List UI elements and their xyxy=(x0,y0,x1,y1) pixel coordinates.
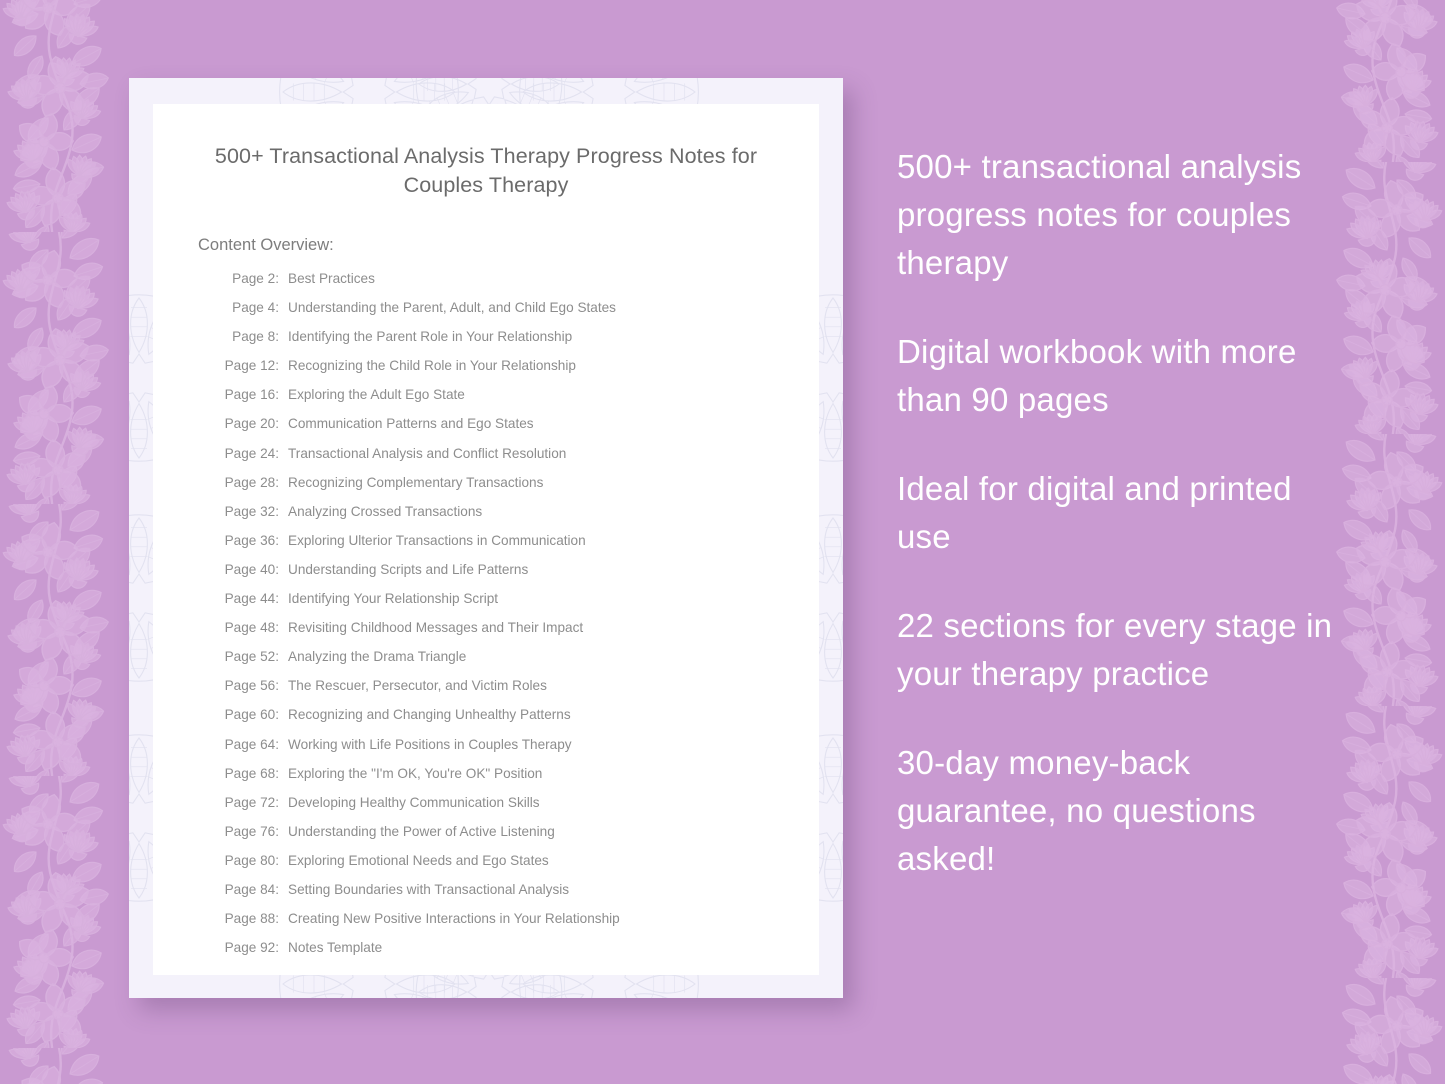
toc-page-number: Page 64: xyxy=(221,737,279,753)
toc-section-title: Recognizing and Changing Unhealthy Patte… xyxy=(288,707,571,723)
toc-section-title: Exploring the "I'm OK, You're OK" Positi… xyxy=(288,766,542,782)
toc-row: Page 48:Revisiting Childhood Messages an… xyxy=(221,620,795,649)
toc-section-title: Exploring Ulterior Transactions in Commu… xyxy=(288,533,586,549)
toc-page-number: Page 32: xyxy=(221,504,279,520)
toc-page-number: Page 48: xyxy=(221,620,279,636)
toc-page-number: Page 40: xyxy=(221,562,279,578)
toc-page-number: Page 76: xyxy=(221,824,279,840)
toc-page-number: Page 20: xyxy=(221,416,279,432)
toc-row: Page 64:Working with Life Positions in C… xyxy=(221,737,795,766)
toc-section-title: Analyzing the Drama Triangle xyxy=(288,649,466,665)
toc-page-number: Page 36: xyxy=(221,533,279,549)
table-of-contents: Page 2:Best PracticesPage 4:Understandin… xyxy=(221,271,795,969)
toc-page-number: Page 80: xyxy=(221,853,279,869)
promo-line: 30-day money-back guarantee, no question… xyxy=(897,739,1347,883)
toc-row: Page 8:Identifying the Parent Role in Yo… xyxy=(221,329,795,358)
toc-page-number: Page 60: xyxy=(221,707,279,723)
toc-section-title: Understanding Scripts and Life Patterns xyxy=(288,562,528,578)
toc-page-number: Page 2: xyxy=(221,271,279,287)
toc-row: Page 36:Exploring Ulterior Transactions … xyxy=(221,533,795,562)
floral-vine-icon xyxy=(1333,0,1445,1084)
toc-page-number: Page 24: xyxy=(221,446,279,462)
promo-line: 500+ transactional analysis progress not… xyxy=(897,143,1347,287)
toc-page-number: Page 68: xyxy=(221,766,279,782)
toc-row: Page 32:Analyzing Crossed Transactions xyxy=(221,504,795,533)
toc-page-number: Page 16: xyxy=(221,387,279,403)
toc-row: Page 84:Setting Boundaries with Transact… xyxy=(221,882,795,911)
toc-row: Page 24:Transactional Analysis and Confl… xyxy=(221,446,795,475)
toc-section-title: Communication Patterns and Ego States xyxy=(288,416,534,432)
toc-row: Page 92:Notes Template xyxy=(221,940,795,969)
toc-row: Page 16:Exploring the Adult Ego State xyxy=(221,387,795,416)
toc-row: Page 72:Developing Healthy Communication… xyxy=(221,795,795,824)
toc-section-title: Understanding the Power of Active Listen… xyxy=(288,824,555,840)
toc-row: Page 68:Exploring the "I'm OK, You're OK… xyxy=(221,766,795,795)
toc-row: Page 20:Communication Patterns and Ego S… xyxy=(221,416,795,445)
toc-section-title: Working with Life Positions in Couples T… xyxy=(288,737,572,753)
toc-row: Page 76:Understanding the Power of Activ… xyxy=(221,824,795,853)
toc-section-title: Identifying the Parent Role in Your Rela… xyxy=(288,329,572,345)
toc-row: Page 52:Analyzing the Drama Triangle xyxy=(221,649,795,678)
toc-page-number: Page 88: xyxy=(221,911,279,927)
toc-row: Page 4:Understanding the Parent, Adult, … xyxy=(221,300,795,329)
toc-section-title: Developing Healthy Communication Skills xyxy=(288,795,540,811)
toc-page-number: Page 92: xyxy=(221,940,279,956)
page-title: 500+ Transactional Analysis Therapy Prog… xyxy=(177,142,795,200)
toc-section-title: Analyzing Crossed Transactions xyxy=(288,504,482,520)
toc-section-title: The Rescuer, Persecutor, and Victim Role… xyxy=(288,678,547,694)
toc-section-title: Revisiting Childhood Messages and Their … xyxy=(288,620,583,636)
toc-section-title: Transactional Analysis and Conflict Reso… xyxy=(288,446,566,462)
toc-page-number: Page 8: xyxy=(221,329,279,345)
toc-row: Page 12:Recognizing the Child Role in Yo… xyxy=(221,358,795,387)
toc-row: Page 44:Identifying Your Relationship Sc… xyxy=(221,591,795,620)
promo-line: Ideal for digital and printed use xyxy=(897,465,1347,561)
right-floral-border xyxy=(1333,0,1445,1084)
toc-section-title: Creating New Positive Interactions in Yo… xyxy=(288,911,620,927)
toc-page-number: Page 84: xyxy=(221,882,279,898)
toc-row: Page 56:The Rescuer, Persecutor, and Vic… xyxy=(221,678,795,707)
toc-section-title: Best Practices xyxy=(288,271,375,287)
toc-section-title: Notes Template xyxy=(288,940,382,956)
toc-page-number: Page 52: xyxy=(221,649,279,665)
toc-section-title: Exploring Emotional Needs and Ego States xyxy=(288,853,549,869)
toc-section-title: Recognizing the Child Role in Your Relat… xyxy=(288,358,576,374)
promo-line: Digital workbook with more than 90 pages xyxy=(897,328,1347,424)
toc-page-number: Page 4: xyxy=(221,300,279,316)
toc-section-title: Understanding the Parent, Adult, and Chi… xyxy=(288,300,616,316)
toc-page-number: Page 12: xyxy=(221,358,279,374)
toc-row: Page 80:Exploring Emotional Needs and Eg… xyxy=(221,853,795,882)
toc-page-number: Page 72: xyxy=(221,795,279,811)
toc-row: Page 28:Recognizing Complementary Transa… xyxy=(221,475,795,504)
toc-row: Page 40:Understanding Scripts and Life P… xyxy=(221,562,795,591)
promo-line: 22 sections for every stage in your ther… xyxy=(897,602,1347,698)
toc-section-title: Identifying Your Relationship Script xyxy=(288,591,498,607)
toc-section-title: Setting Boundaries with Transactional An… xyxy=(288,882,569,898)
toc-page-number: Page 44: xyxy=(221,591,279,607)
toc-section-title: Exploring the Adult Ego State xyxy=(288,387,465,403)
product-preview-card: 500+ Transactional Analysis Therapy Prog… xyxy=(129,78,843,998)
card-inner-page: 500+ Transactional Analysis Therapy Prog… xyxy=(153,104,819,975)
toc-page-number: Page 56: xyxy=(221,678,279,694)
toc-page-number: Page 28: xyxy=(221,475,279,491)
toc-row: Page 88:Creating New Positive Interactio… xyxy=(221,911,795,940)
content-overview-label: Content Overview: xyxy=(198,236,795,255)
left-floral-border xyxy=(0,0,125,1084)
toc-row: Page 2:Best Practices xyxy=(221,271,795,300)
toc-row: Page 60:Recognizing and Changing Unhealt… xyxy=(221,707,795,736)
promo-copy: 500+ transactional analysis progress not… xyxy=(897,143,1347,883)
toc-section-title: Recognizing Complementary Transactions xyxy=(288,475,543,491)
floral-vine-icon xyxy=(0,0,125,1084)
